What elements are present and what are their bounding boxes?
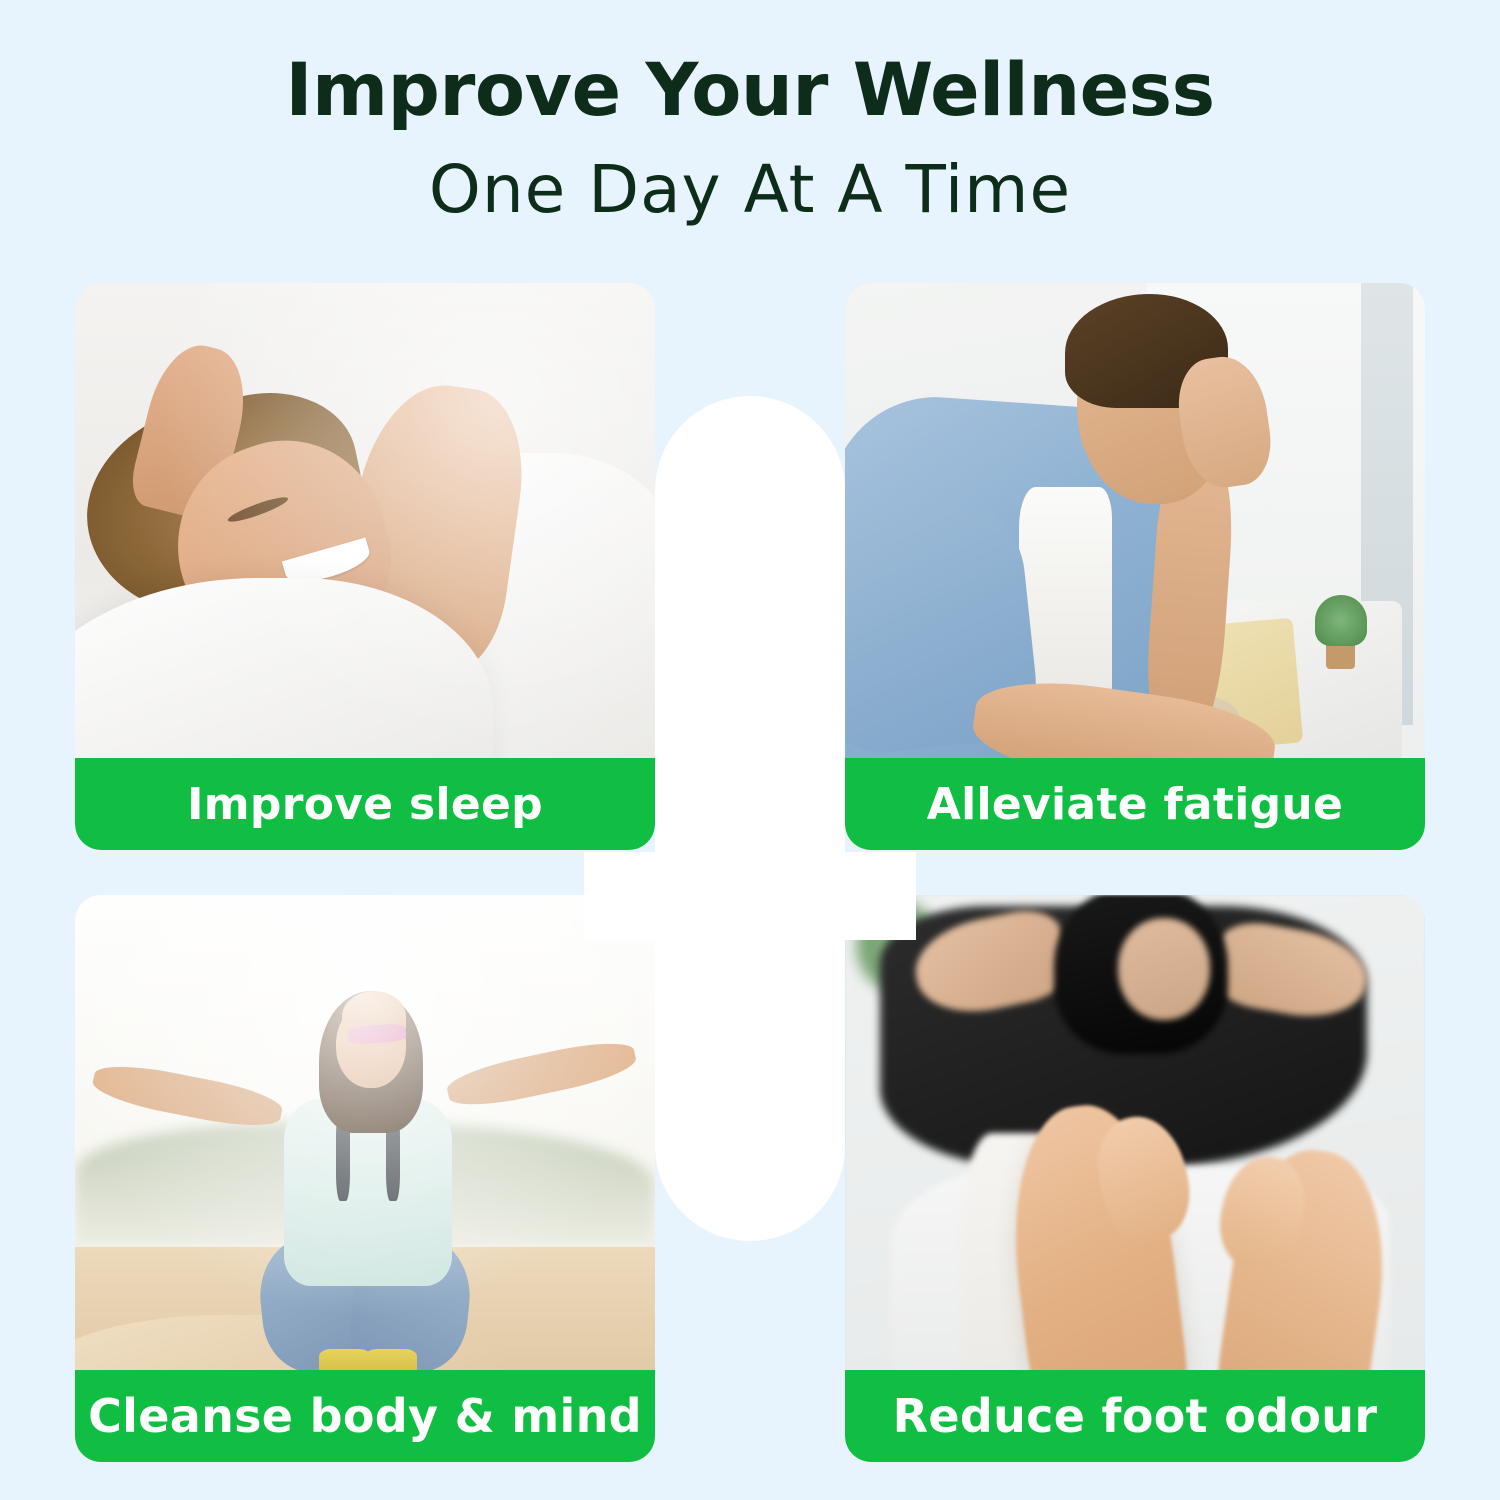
benefit-card-alleviate-fatigue[interactable]: Alleviate fatigue xyxy=(845,283,1425,850)
card-label-text: Cleanse body & mind xyxy=(88,1389,642,1443)
gutter-horizontal xyxy=(584,852,916,940)
card-label-text: Alleviate fatigue xyxy=(927,779,1343,830)
card-label-cleanse-body-mind: Cleanse body & mind xyxy=(75,1370,655,1462)
benefit-card-improve-sleep[interactable]: Improve sleep xyxy=(75,283,655,850)
card-label-reduce-foot-odour: Reduce foot odour xyxy=(845,1370,1425,1462)
card-label-text: Reduce foot odour xyxy=(893,1389,1378,1443)
card-label-alleviate-fatigue: Alleviate fatigue xyxy=(845,758,1425,850)
benefit-card-reduce-foot-odour[interactable]: Reduce foot odour xyxy=(845,895,1425,1462)
card-label-improve-sleep: Improve sleep xyxy=(75,758,655,850)
page-subtitle: One Day At A Time xyxy=(0,145,1500,234)
page-title: Improve Your Wellness xyxy=(0,52,1500,129)
page-header: Improve Your Wellness One Day At A Time xyxy=(0,0,1500,234)
benefit-card-cleanse-body-mind[interactable]: Cleanse body & mind xyxy=(75,895,655,1462)
card-label-text: Improve sleep xyxy=(187,779,543,830)
gutter-vertical xyxy=(655,396,845,1241)
